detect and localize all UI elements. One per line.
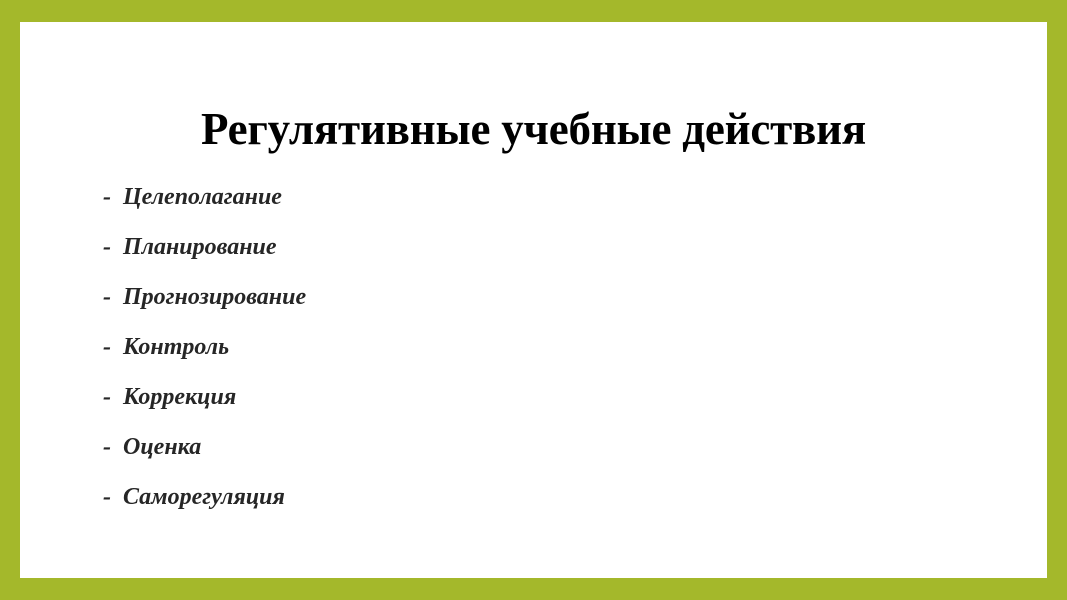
- list-item: - Контроль: [103, 322, 1027, 372]
- list-item-label: Коррекция: [123, 372, 236, 422]
- list-item-label: Контроль: [123, 322, 229, 372]
- page-title: Регулятивные учебные действия: [20, 106, 1047, 153]
- bullet-dash-icon: -: [103, 222, 123, 272]
- bullet-dash-icon: -: [103, 172, 123, 222]
- bullet-dash-icon: -: [103, 422, 123, 472]
- list-item-label: Целеполагание: [123, 172, 282, 222]
- list-item-label: Прогнозирование: [123, 272, 306, 322]
- list-item: - Целеполагание: [103, 172, 1027, 222]
- list-item: - Коррекция: [103, 372, 1027, 422]
- bullet-dash-icon: -: [103, 472, 123, 522]
- list-item: - Саморегуляция: [103, 472, 1027, 522]
- list-item-label: Оценка: [123, 422, 201, 472]
- bullet-dash-icon: -: [103, 372, 123, 422]
- bullet-dash-icon: -: [103, 322, 123, 372]
- slide-canvas: Регулятивные учебные действия - Целепола…: [20, 22, 1047, 578]
- list-item: - Прогнозирование: [103, 272, 1027, 322]
- bullet-dash-icon: -: [103, 272, 123, 322]
- list-item-label: Саморегуляция: [123, 472, 285, 522]
- bullet-list: - Целеполагание - Планирование - Прогноз…: [103, 172, 1027, 522]
- list-item: - Оценка: [103, 422, 1027, 472]
- list-item-label: Планирование: [123, 222, 277, 272]
- list-item: - Планирование: [103, 222, 1027, 272]
- slide-frame: Регулятивные учебные действия - Целепола…: [0, 0, 1067, 600]
